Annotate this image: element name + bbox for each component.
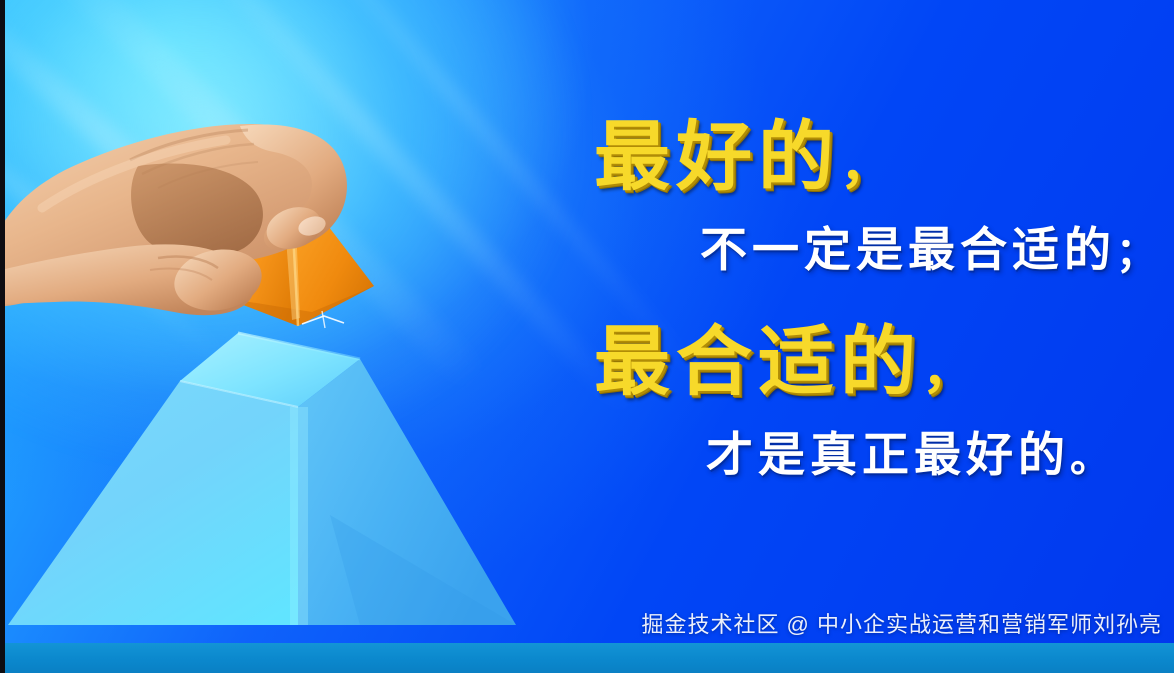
ground-band (0, 643, 1174, 673)
watermark-credit: 掘金技术社区 @ 中小企实战运营和营销军师刘孙亮 (641, 607, 1162, 639)
quote-line-2: 不一定是最合适的； (700, 226, 1160, 273)
quote-line-1-text: 最好的 (594, 115, 840, 200)
quote-line-4: 才是真正最好的。 (706, 431, 1160, 478)
quote-line-4-text: 才是真正最好的 (706, 428, 1070, 481)
quote-line-3-punct: ， (922, 342, 974, 400)
quote-line-2-punct: ； (1116, 231, 1156, 275)
quote-block: 最好的， 不一定是最合适的； 最合适的， 才是真正最好的。 (560, 120, 1160, 478)
hand-illustration (0, 68, 402, 358)
quote-line-1: 最好的， (594, 120, 1160, 196)
quote-line-2-text: 不一定是最合适的 (700, 223, 1116, 276)
quote-line-1-punct: ， (840, 137, 892, 195)
quote-line-3: 最合适的， (594, 325, 1160, 401)
poster-canvas: 最好的， 不一定是最合适的； 最合适的， 才是真正最好的。 掘金技术社区 @ 中… (0, 0, 1174, 673)
left-edge-border (0, 0, 5, 673)
quote-line-4-punct: 。 (1070, 436, 1110, 480)
blue-frustum-base (0, 315, 600, 645)
quote-line-3-text: 最合适的 (594, 320, 922, 405)
